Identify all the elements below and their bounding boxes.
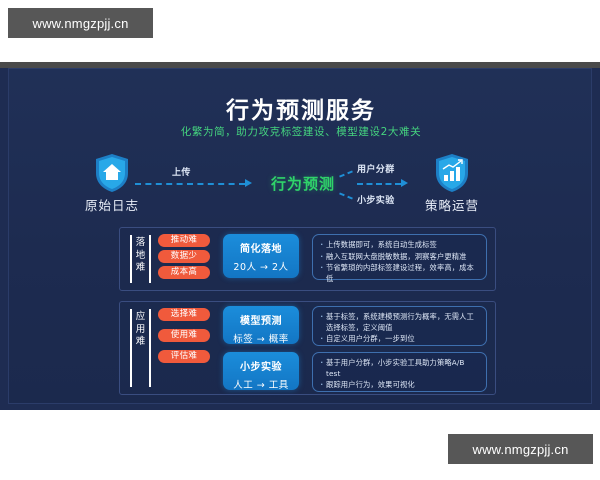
benefit-item: 融入互联网大盘脱敏数据，洞察客户更精准 [319,252,480,263]
flow-node-strategy-label: 策略运营 [407,195,497,214]
shield-home-icon [94,153,130,193]
solution-box-model-prediction[interactable]: 模型预测 标签 → 概率 [223,306,299,344]
pain-point-tag-list: 推动难 数据少 成本高 [158,234,210,282]
benefit-item: 节省繁琐的内部标签建设过程，效率高，成本低 [319,263,480,284]
flow-diagram: 原始日志 上传 行为预测 用户分群 小步实验 [9,151,593,213]
solution-box-subtitle: 人工 → 工具 [223,377,299,391]
benefit-list-model-prediction: 基于标签，系统建模预测行为概率，无需人工选择标签，定义阈值 自定义用户分群，一步… [312,306,487,346]
watermark-bottom: www.nmgzpjj.cn [448,434,593,464]
shield-bar-chart-icon [434,153,470,193]
benefit-list-simplify: 上传数据即可，系统自动生成标签 融入互联网大盘脱敏数据，洞察客户更精准 节省繁琐… [312,234,487,280]
section-panel-application: 应 用 难 选择难 使用难 评估难 模型预测 标签 → 概率 基于标签，系统建模… [119,301,496,395]
section-vertical-label-application: 应 用 难 [130,309,151,387]
poster-subtitle: 化繁为简，助力攻克标签建设、模型建设2大难关 [9,124,593,139]
pain-point-tag: 评估难 [158,350,210,363]
solution-box-title: 小步实验 [223,358,299,373]
poster-frame: 行为预测服务 化繁为简，助力攻克标签建设、模型建设2大难关 原始日志 上传 行为… [0,62,600,410]
solution-box-small-experiment[interactable]: 小步实验 人工 → 工具 [223,352,299,390]
flow-label-small-experiment: 小步实验 [357,193,395,206]
solution-box-subtitle: 标签 → 概率 [223,331,299,345]
vlabel-char: 用 [132,324,149,337]
vlabel-char: 落 [132,237,149,250]
flow-label-upload: 上传 [172,165,191,178]
poster-title: 行为预测服务 [9,91,593,125]
flow-arrowhead-left [245,179,252,187]
pain-point-tag: 数据少 [158,250,210,263]
benefit-item: 自定义用户分群，一步到位 [319,334,480,345]
flow-node-strategy: 策略运营 [407,153,497,214]
section-vertical-label-landing: 落 地 难 [130,235,151,283]
pain-point-tag: 成本高 [158,266,210,279]
flow-label-user-group: 用户分群 [357,162,395,175]
solution-box-title: 模型预测 [223,312,299,327]
benefit-item: 基于标签，系统建模预测行为概率，无需人工选择标签，定义阈值 [319,312,480,333]
flow-arrow-output [357,183,401,185]
benefit-item: 上传数据即可，系统自动生成标签 [319,240,480,251]
vlabel-char: 难 [132,262,149,275]
solution-box-simplify[interactable]: 简化落地 20人 → 2人 [223,234,299,278]
solution-box-title: 简化落地 [223,240,299,255]
pain-point-tag-list: 选择难 使用难 评估难 [158,308,210,371]
vlabel-char: 难 [132,336,149,349]
flow-arrow-upload [135,183,245,185]
vlabel-char: 应 [132,311,149,324]
watermark-top: www.nmgzpjj.cn [8,8,153,38]
poster-content: 行为预测服务 化繁为简，助力攻克标签建设、模型建设2大难关 原始日志 上传 行为… [8,68,592,404]
vlabel-char: 地 [132,250,149,263]
benefit-list-small-experiment: 基于用户分群，小步实验工具助力策略A/B test 跟踪用户行为，效果可视化 [312,352,487,392]
pain-point-tag: 选择难 [158,308,210,321]
flow-center-label: 行为预测 [255,173,351,194]
benefit-item: 跟踪用户行为，效果可视化 [319,380,480,391]
section-panel-landing: 落 地 难 推动难 数据少 成本高 简化落地 20人 → 2人 上传数据即可，系… [119,227,496,291]
flow-node-source-label: 原始日志 [67,195,157,214]
solution-box-subtitle: 20人 → 2人 [223,259,299,273]
pain-point-tag: 推动难 [158,234,210,247]
pain-point-tag: 使用难 [158,329,210,342]
benefit-item: 基于用户分群，小步实验工具助力策略A/B test [319,358,480,379]
